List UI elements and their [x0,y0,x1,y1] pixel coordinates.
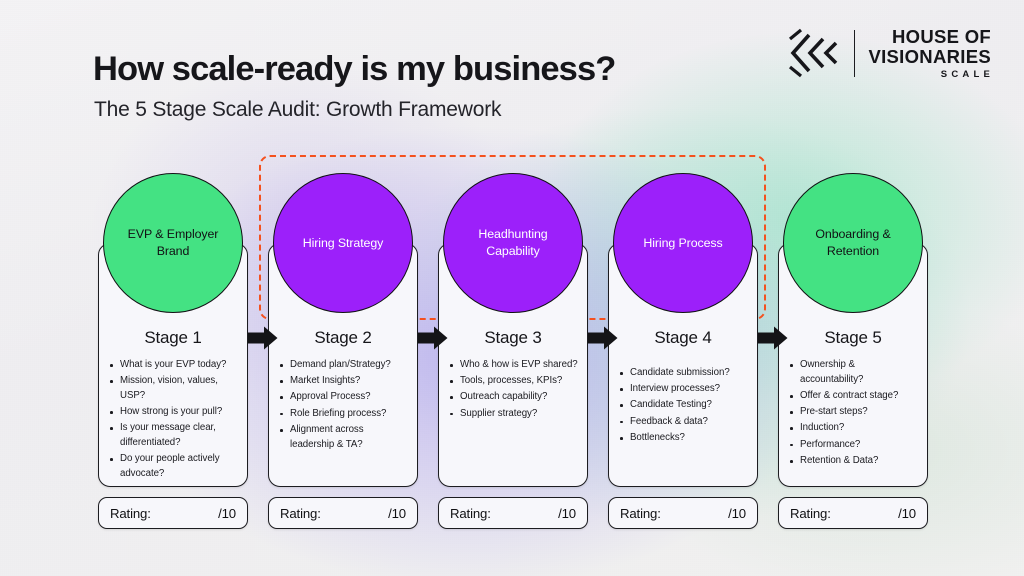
rating-label: Rating: [110,506,151,521]
arrow-right-icon [248,326,278,350]
rating-label: Rating: [620,506,661,521]
rating-input-2[interactable]: Rating:/10 [268,497,418,529]
stage-question-list: Ownership & accountability?Offer & contr… [789,358,920,470]
rating-input-1[interactable]: Rating:/10 [98,497,248,529]
list-item: Mission, vision, values, USP? [109,374,240,403]
arrow-right-icon [418,326,448,350]
arrow-stage3-to-stage4 [588,326,618,350]
stage-question-list: Candidate submission?Interview processes… [619,366,750,447]
list-item: Offer & contract stage? [789,389,920,404]
stage-circle-label: Hiring Strategy [303,235,383,252]
list-item: Supplier strategy? [449,407,580,422]
stage-question-list: What is your EVP today?Mission, vision, … [109,358,240,483]
list-item: Retention & Data? [789,454,920,469]
list-item: Approval Process? [279,390,410,405]
rating-label: Rating: [790,506,831,521]
stage-heading: Stage 2 [269,328,417,348]
stage-flow: Stage 1What is your EVP today?Mission, v… [0,0,1024,576]
stage-circle-label: Headhunting Capability [456,226,570,259]
list-item: Outreach capability? [449,390,580,405]
list-item: Role Briefing process? [279,407,410,422]
rating-max: /10 [218,506,236,521]
list-item: Market Insights? [279,374,410,389]
list-item: Alignment across leadership & TA? [279,423,410,452]
arrow-right-icon [588,326,618,350]
list-item: Candidate Testing? [619,398,750,413]
rating-label: Rating: [280,506,321,521]
rating-max: /10 [728,506,746,521]
list-item: Induction? [789,421,920,436]
arrow-stage2-to-stage3 [418,326,448,350]
list-item: Performance? [789,438,920,453]
rating-max: /10 [558,506,576,521]
list-item: Feedback & data? [619,415,750,430]
list-item: Bottlenecks? [619,431,750,446]
list-item: Demand plan/Strategy? [279,358,410,373]
stage-question-list: Who & how is EVP shared?Tools, processes… [449,358,580,423]
list-item: Candidate submission? [619,366,750,381]
arrow-stage4-to-stage5 [758,326,788,350]
list-item: How strong is your pull? [109,405,240,420]
stage-heading: Stage 4 [609,328,757,348]
list-item: Tools, processes, KPIs? [449,374,580,389]
rating-input-5[interactable]: Rating:/10 [778,497,928,529]
stage-question-list: Demand plan/Strategy?Market Insights?App… [279,358,410,454]
stage-circle-2[interactable]: Hiring Strategy [273,173,413,313]
stage-heading: Stage 3 [439,328,587,348]
list-item: Do your people actively advocate? [109,452,240,481]
stage-circle-label: Onboarding & Retention [796,226,910,259]
list-item: Is your message clear, differentiated? [109,421,240,450]
list-item: Who & how is EVP shared? [449,358,580,373]
stage-circle-4[interactable]: Hiring Process [613,173,753,313]
stage-heading: Stage 5 [779,328,927,348]
list-item: What is your EVP today? [109,358,240,373]
rating-input-4[interactable]: Rating:/10 [608,497,758,529]
list-item: Interview processes? [619,382,750,397]
stage-circle-label: EVP & Employer Brand [116,226,230,259]
rating-max: /10 [388,506,406,521]
stage-circle-3[interactable]: Headhunting Capability [443,173,583,313]
stage-circle-5[interactable]: Onboarding & Retention [783,173,923,313]
stage-circle-label: Hiring Process [643,235,722,252]
rating-max: /10 [898,506,916,521]
rating-label: Rating: [450,506,491,521]
rating-input-3[interactable]: Rating:/10 [438,497,588,529]
list-item: Ownership & accountability? [789,358,920,387]
arrow-right-icon [758,326,788,350]
stage-heading: Stage 1 [99,328,247,348]
list-item: Pre-start steps? [789,405,920,420]
arrow-stage1-to-stage2 [248,326,278,350]
stage-circle-1[interactable]: EVP & Employer Brand [103,173,243,313]
